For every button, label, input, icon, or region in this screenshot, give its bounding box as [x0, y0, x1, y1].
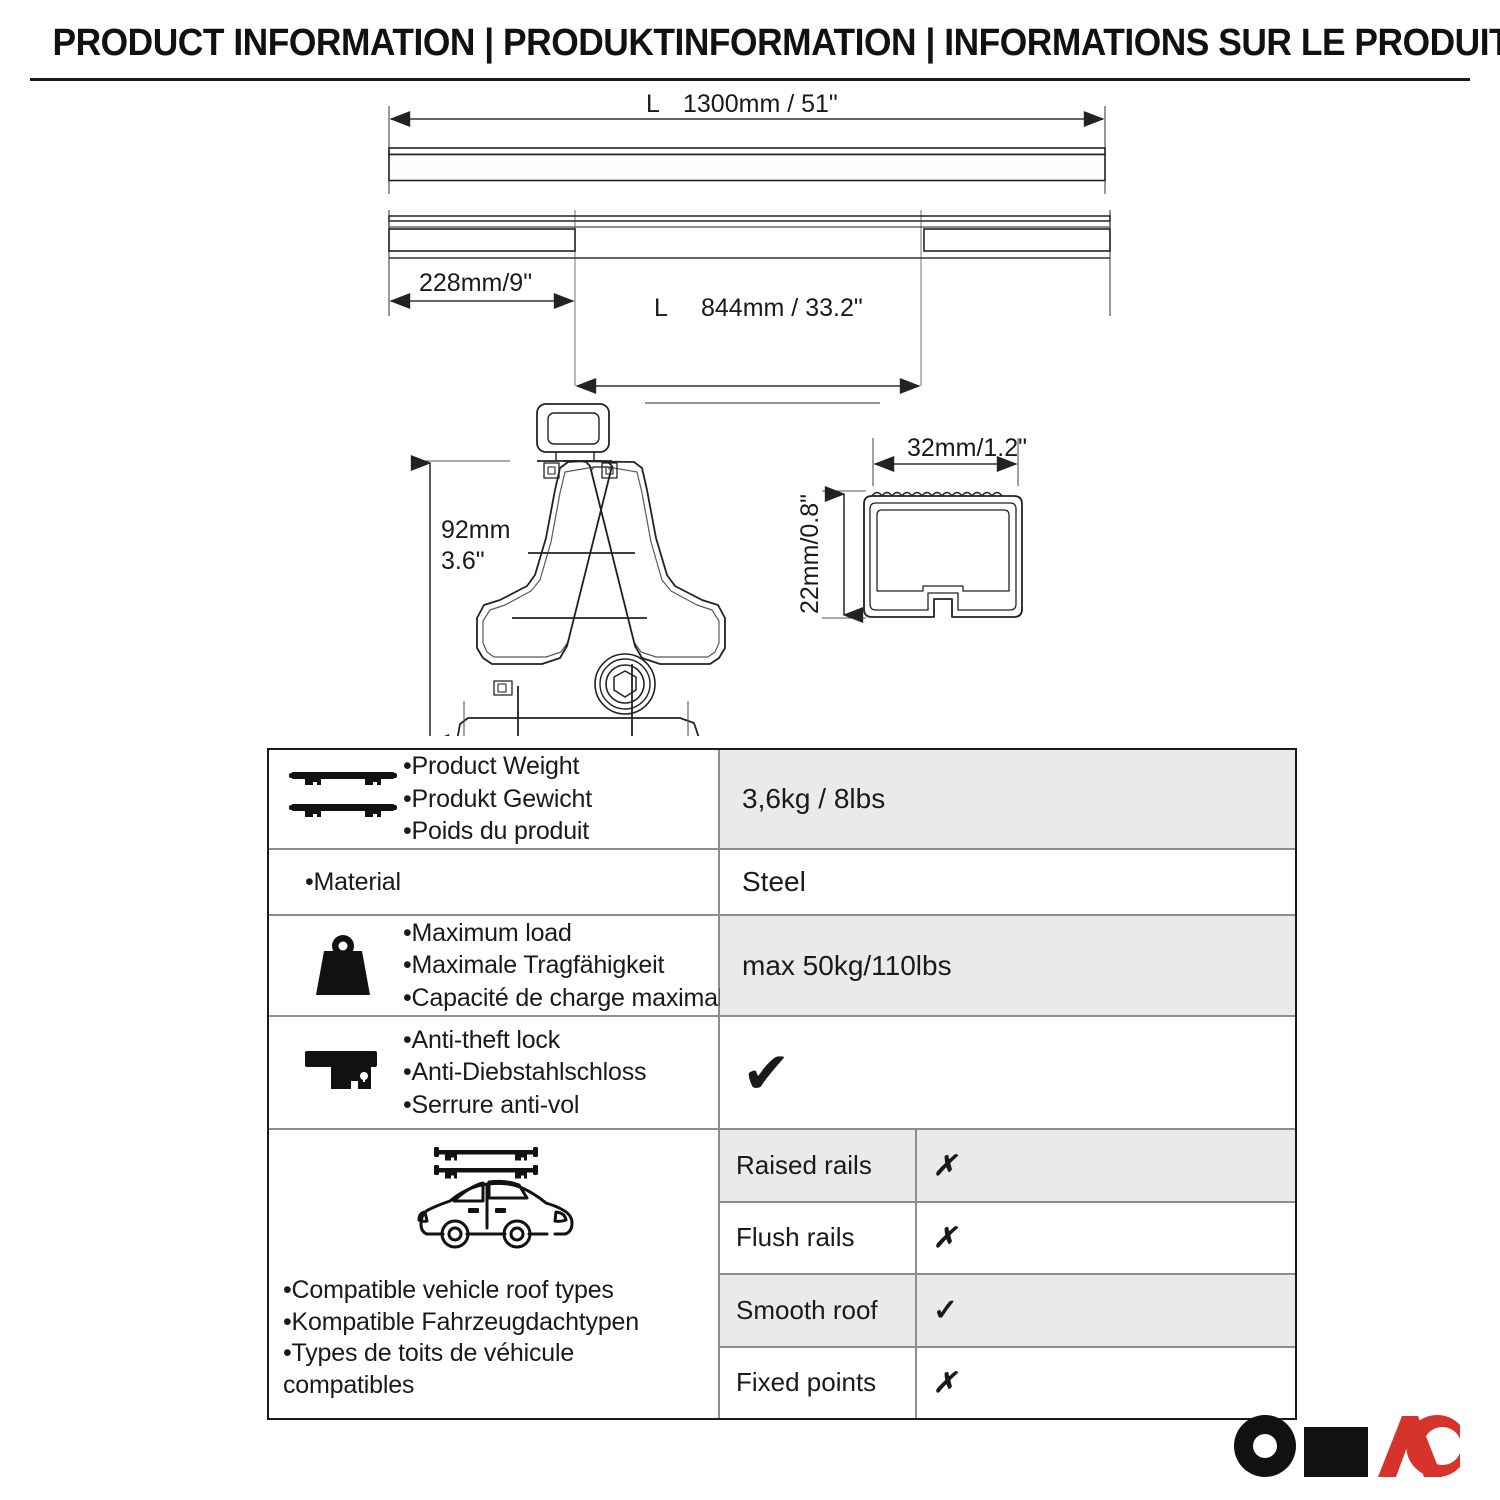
table-row: •Material Steel — [269, 850, 1295, 916]
roof-type-row-fixed-points: Fixed points ✗ — [720, 1348, 1295, 1419]
spec-label-list: •Product Weight •Produkt Gewicht •Poids … — [403, 750, 708, 848]
roof-type-value: ✗ — [917, 1130, 1295, 1201]
roof-type-name: Flush rails — [720, 1203, 917, 1274]
check-icon: ✔ — [742, 1044, 791, 1102]
spec-label-cell: •Material — [269, 850, 720, 914]
spec-label-line: •Anti-Diebstahlschloss — [403, 1056, 708, 1089]
roof-compat-subtable: Raised rails ✗ Flush rails ✗ Smooth roof… — [720, 1130, 1295, 1418]
check-icon: ✓ — [933, 1293, 958, 1328]
roof-compat-label-cell: •Compatible vehicle roof types •Kompatib… — [269, 1130, 720, 1418]
spec-label-line: •Produkt Gewicht — [403, 783, 708, 816]
dim-foot-offset: 228mm/9" — [419, 269, 532, 297]
spec-label-list: •Anti-theft lock •Anti-Diebstahlschloss … — [403, 1024, 708, 1122]
table-row: •Anti-theft lock •Anti-Diebstahlschloss … — [269, 1017, 1295, 1130]
car-with-roof-bars-icon — [405, 1142, 585, 1267]
roof-type-row-smooth-roof: Smooth roof ✓ — [720, 1275, 1295, 1348]
weight-icon — [283, 929, 403, 1003]
product-spec-table: •Product Weight •Produkt Gewicht •Poids … — [267, 748, 1297, 1420]
dim-bar-length-value: 1300mm / 51" — [683, 90, 838, 118]
cross-icon: ✗ — [933, 1366, 956, 1399]
spec-value-weight: 3,6kg / 8lbs — [720, 750, 1295, 848]
spec-label-list: •Maximum load •Maximale Tragfähigkeit •C… — [403, 917, 737, 1015]
spec-label-line: •Serrure anti-vol — [403, 1089, 708, 1122]
roof-type-value: ✗ — [917, 1203, 1295, 1274]
spec-label-line: •Maximum load — [403, 917, 737, 950]
dim-bar-length-prefix: L — [646, 90, 660, 118]
cross-icon: ✗ — [933, 1221, 956, 1254]
roof-type-name: Raised rails — [720, 1130, 917, 1201]
page-title: PRODUCT INFORMATION | PRODUKTINFORMATION… — [53, 22, 1448, 65]
spec-label-line: •Compatible vehicle roof types — [283, 1275, 639, 1307]
spec-value-max-load: max 50kg/110lbs — [720, 916, 1295, 1015]
spec-label-line: •Material — [305, 866, 708, 899]
roof-type-row-raised-rails: Raised rails ✗ — [720, 1130, 1295, 1203]
omac-logo — [1232, 1414, 1484, 1478]
spec-label-line: compatibles — [283, 1370, 639, 1402]
table-row: •Maximum load •Maximale Tragfähigkeit •C… — [269, 916, 1295, 1017]
dim-span-value: 844mm / 33.2" — [701, 294, 863, 322]
spec-value-anti-theft: ✔ — [720, 1017, 1295, 1128]
roof-type-value: ✓ — [917, 1275, 1295, 1346]
dim-span-prefix: L — [654, 294, 668, 322]
dim-foot-height-line1: 92mm — [441, 516, 510, 544]
dim-foot-height-line2: 3.6" — [441, 547, 485, 575]
spec-label-line: •Capacité de charge maximale — [403, 982, 737, 1015]
spec-label-line: •Maximale Tragfähigkeit — [403, 949, 737, 982]
header-divider — [30, 78, 1470, 81]
spec-label-line: •Poids du produit — [403, 815, 708, 848]
spec-label-line: •Kompatible Fahrzeugdachtypen — [283, 1307, 639, 1339]
dim-profile-height: 22mm/0.8" — [796, 494, 824, 614]
roof-type-name: Fixed points — [720, 1348, 917, 1419]
table-row: •Compatible vehicle roof types •Kompatib… — [269, 1130, 1295, 1418]
spec-label-line: •Anti-theft lock — [403, 1024, 708, 1057]
roof-type-value: ✗ — [917, 1348, 1295, 1419]
spec-label-cell: •Anti-theft lock •Anti-Diebstahlschloss … — [269, 1017, 720, 1128]
roof-type-row-flush-rails: Flush rails ✗ — [720, 1203, 1295, 1276]
roof-bars-icon — [283, 768, 403, 830]
spec-label-line: •Product Weight — [403, 750, 708, 783]
spec-label-line: •Types de toits de véhicule — [283, 1338, 639, 1370]
roof-compat-label-list: •Compatible vehicle roof types •Kompatib… — [283, 1275, 639, 1401]
roof-type-name: Smooth roof — [720, 1275, 917, 1346]
lock-icon — [283, 1043, 403, 1103]
spec-label-cell: •Product Weight •Produkt Gewicht •Poids … — [269, 750, 720, 848]
cross-icon: ✗ — [933, 1149, 956, 1182]
technical-drawing: L 1300mm / 51" 228mm/9" L 844mm / 33.2" … — [0, 86, 1500, 736]
spec-label-cell: •Maximum load •Maximale Tragfähigkeit •C… — [269, 916, 720, 1015]
table-row: •Product Weight •Produkt Gewicht •Poids … — [269, 750, 1295, 850]
spec-value-material: Steel — [720, 850, 1295, 914]
dim-profile-width: 32mm/1.2" — [907, 434, 1027, 462]
spec-label-list: •Material — [305, 866, 708, 899]
